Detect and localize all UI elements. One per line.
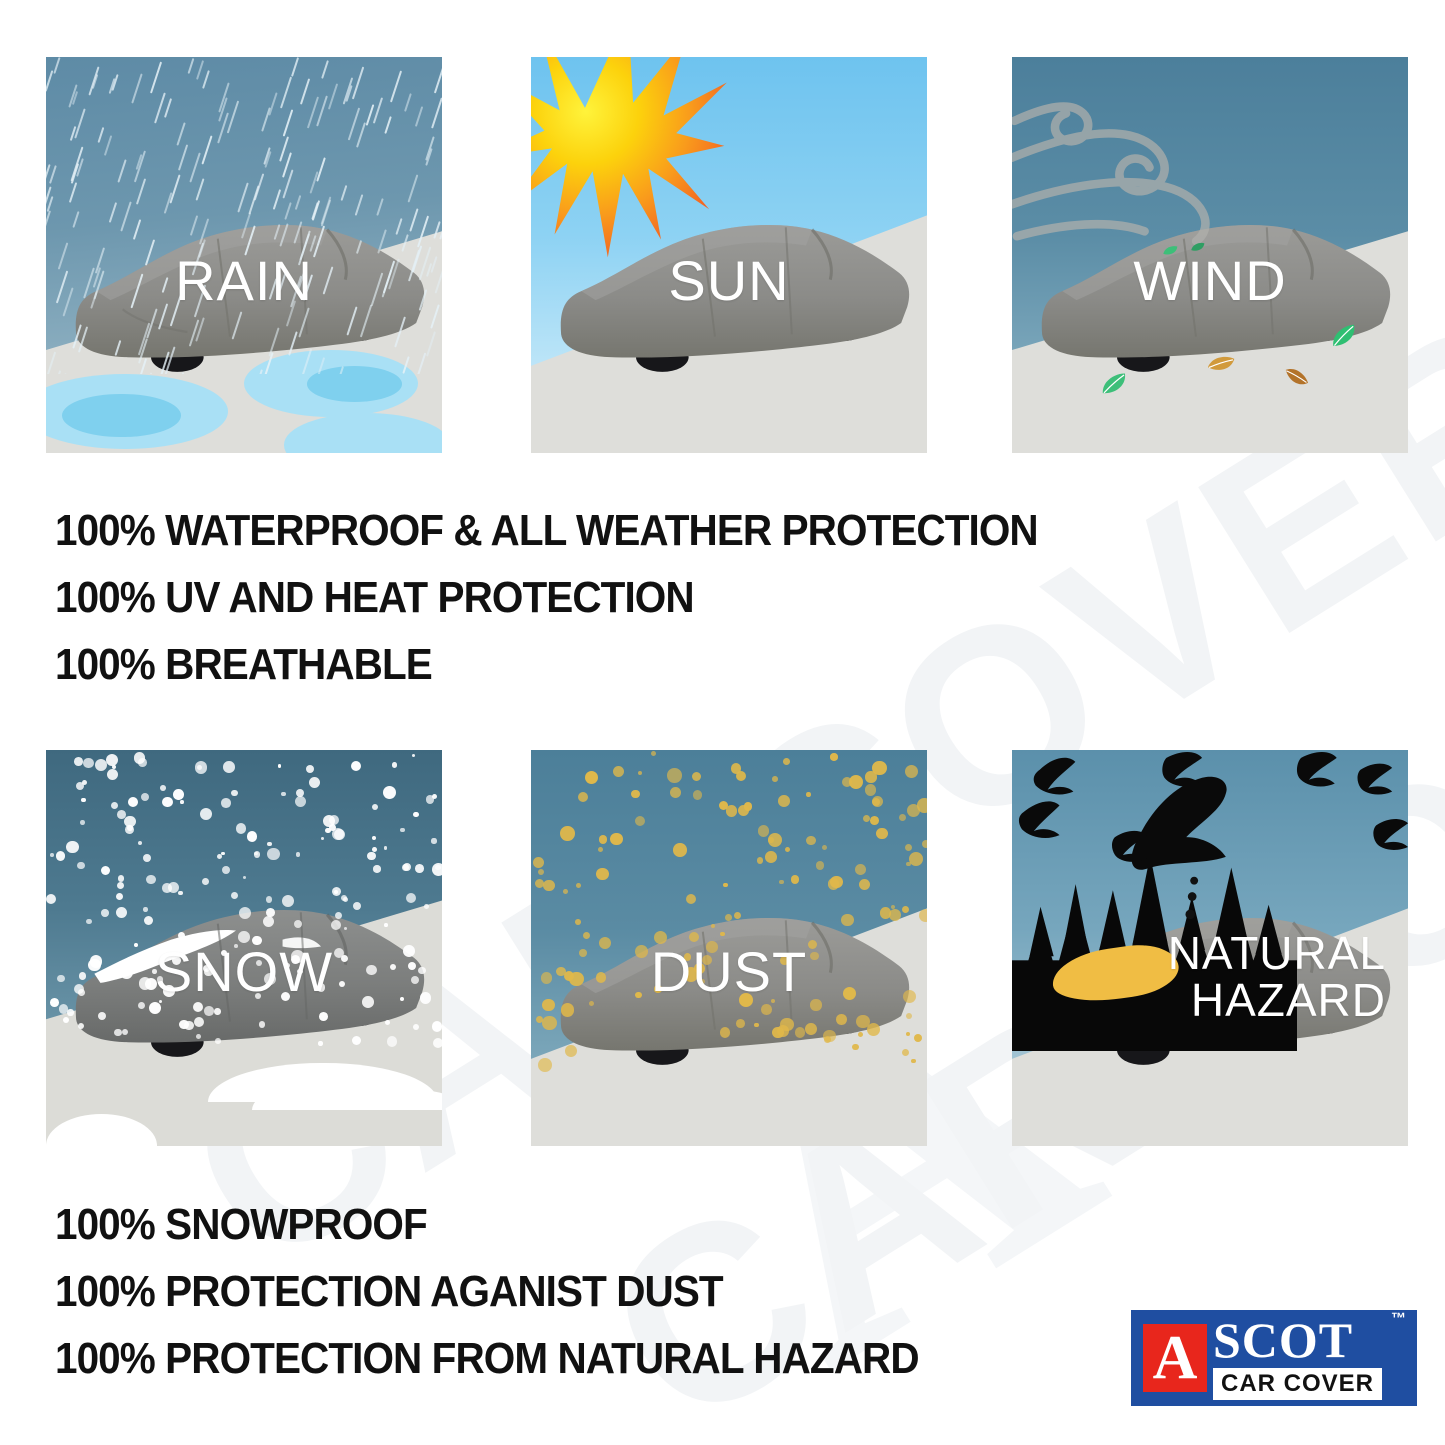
- snowflake: [296, 852, 301, 857]
- dust-mote: [905, 844, 912, 851]
- rain-drop: [63, 287, 74, 316]
- snowflake: [184, 1021, 194, 1031]
- snowflake: [204, 1006, 214, 1016]
- snowflake: [385, 1020, 390, 1025]
- dust-mote: [779, 880, 783, 884]
- dust-mote: [810, 999, 821, 1010]
- rain-drop: [196, 60, 204, 80]
- snowflake: [46, 894, 56, 904]
- dust-mote: [865, 784, 877, 796]
- rain-drop: [279, 76, 291, 108]
- snowflake: [101, 909, 109, 917]
- rain-drop: [434, 61, 442, 93]
- dust-mote: [635, 992, 642, 999]
- dust-mote: [638, 771, 642, 775]
- snowflake: [180, 800, 184, 804]
- rain-drop: [440, 210, 442, 240]
- rain-drop: [169, 175, 180, 204]
- snowflake: [335, 912, 342, 919]
- snowflake: [408, 962, 416, 970]
- snowflake: [200, 808, 212, 820]
- snowflake: [50, 853, 54, 857]
- dust-mote: [780, 956, 789, 965]
- rain-drop: [142, 372, 153, 373]
- rain-drop: [376, 198, 383, 216]
- feature-line: 100% PROTECTION FROM NATURAL HAZARD: [55, 1326, 919, 1393]
- rain-drop: [300, 348, 312, 374]
- dust-mote: [754, 1023, 759, 1028]
- rain-drop: [352, 67, 365, 100]
- rain-drop: [138, 323, 151, 356]
- snowflake: [420, 992, 431, 1003]
- snowflake: [309, 777, 320, 788]
- dust-mote: [700, 979, 705, 984]
- rain-drop: [269, 278, 278, 300]
- snowflake: [331, 920, 341, 930]
- logo-name: SCOT: [1213, 1316, 1382, 1364]
- snowflake: [267, 848, 280, 861]
- dust-mote: [806, 792, 810, 796]
- snowflake: [106, 754, 118, 766]
- feature-panel-snow: SNOW: [46, 750, 442, 1146]
- rain-drop: [49, 166, 57, 184]
- rain-drop: [371, 272, 384, 306]
- snowflake: [239, 907, 251, 919]
- snowflake: [266, 896, 272, 902]
- rain-drop: [310, 171, 319, 193]
- rain-drop: [56, 271, 69, 304]
- dust-mote: [855, 864, 866, 875]
- rain-drop: [396, 218, 403, 235]
- dust-mote: [810, 952, 819, 961]
- rain-drop: [273, 189, 281, 209]
- rain-drop: [158, 303, 168, 330]
- snowflake: [255, 993, 261, 999]
- dust-mote: [598, 847, 603, 852]
- rain-drop: [402, 356, 410, 374]
- snowflake: [117, 882, 124, 889]
- snowflake: [56, 851, 66, 861]
- rain-drop: [189, 152, 201, 182]
- dust-mote: [541, 972, 553, 984]
- snowflake: [144, 916, 153, 925]
- snowflake: [306, 765, 314, 773]
- dust-mote: [731, 763, 742, 774]
- dust-mote: [771, 999, 775, 1003]
- rain-drop: [133, 219, 141, 240]
- snowflake: [256, 960, 262, 966]
- dust-mote: [686, 894, 696, 904]
- snowflake: [107, 769, 118, 780]
- snowflake: [125, 825, 134, 834]
- snowflake: [406, 893, 416, 903]
- snowflake: [400, 997, 404, 1001]
- snowflake: [101, 866, 110, 875]
- snowflake: [418, 967, 425, 974]
- rain-drop: [145, 240, 155, 266]
- snowflake: [196, 1034, 201, 1039]
- snowflake: [432, 1021, 442, 1031]
- snowflake: [116, 893, 123, 900]
- feature-line: 100% WATERPROOF & ALL WEATHER PROTECTION: [55, 498, 1038, 565]
- rain-drop: [202, 70, 210, 88]
- dust-mote: [849, 775, 863, 789]
- snowflake: [334, 829, 345, 840]
- snowflake: [231, 892, 238, 899]
- rain-drop: [169, 293, 181, 326]
- rain-drop: [284, 203, 292, 221]
- snowflake: [384, 923, 388, 927]
- snowflake: [63, 1017, 69, 1023]
- dust-mote: [734, 912, 741, 919]
- snowflake: [152, 969, 157, 974]
- rain-drop: [74, 108, 85, 138]
- snowflake: [426, 795, 435, 804]
- rain-drop: [430, 304, 440, 328]
- snowflake: [367, 852, 375, 860]
- rain-drop: [408, 175, 419, 203]
- dust-mote: [902, 1049, 909, 1056]
- rain-drop: [46, 71, 53, 92]
- snowflake: [412, 754, 415, 757]
- feature-panel-natural-hazard: NATURAL HAZARD: [1012, 750, 1408, 1146]
- snowflake: [77, 862, 85, 870]
- snowflake: [78, 989, 85, 996]
- rain-drop: [282, 110, 292, 137]
- snowflake: [247, 831, 257, 841]
- sun-icon: [531, 57, 729, 263]
- rain-drop: [323, 267, 334, 295]
- dust-mote: [836, 1014, 846, 1024]
- snowflake: [67, 1009, 73, 1015]
- snowflake: [223, 761, 235, 773]
- rain-drop: [109, 202, 117, 222]
- snowflake: [236, 823, 247, 834]
- dust-mote: [635, 945, 648, 958]
- snowflake: [325, 828, 331, 834]
- rain-drop: [253, 369, 263, 373]
- rain-drop: [268, 327, 279, 356]
- dust-mote: [919, 909, 927, 922]
- rain-drop: [299, 308, 311, 338]
- rain-drop: [419, 290, 428, 312]
- dust-mote: [589, 1001, 594, 1006]
- dust-mote: [631, 790, 640, 799]
- dust-mote: [706, 941, 718, 953]
- feature-panel-wind: WIND: [1012, 57, 1408, 453]
- dust-mote: [654, 985, 661, 992]
- snowflake: [194, 1017, 204, 1027]
- snowflake: [415, 864, 424, 873]
- dust-mote: [533, 857, 544, 868]
- snowflake: [259, 1021, 265, 1027]
- snowflake: [138, 758, 147, 767]
- dust-mote: [772, 776, 778, 782]
- rain-drop: [327, 84, 337, 111]
- rain-drop: [176, 123, 185, 147]
- snowflake: [122, 1029, 128, 1035]
- snowflake: [157, 976, 163, 982]
- dust-mote: [736, 1019, 745, 1028]
- logo-tagline: CAR COVER: [1213, 1368, 1382, 1400]
- dust-mote: [585, 771, 598, 784]
- dust-mote: [711, 924, 715, 928]
- dust-mote: [805, 1023, 817, 1035]
- dust-mote: [599, 937, 611, 949]
- dust-particles: [531, 750, 927, 1146]
- features-list-top: 100% WATERPROOF & ALL WEATHER PROTECTION…: [55, 498, 1123, 699]
- dust-mote: [579, 949, 587, 957]
- snowflake: [204, 968, 213, 977]
- dust-mote: [702, 955, 712, 965]
- snowflake: [83, 758, 93, 768]
- rain-drop: [231, 311, 242, 339]
- rain-drop: [295, 195, 302, 210]
- dust-mote: [723, 883, 728, 888]
- rain-drop: [195, 178, 204, 200]
- dust-mote: [768, 837, 773, 842]
- dust-mote: [565, 1045, 577, 1057]
- snowflake: [383, 786, 396, 799]
- snowflake: [221, 798, 231, 808]
- rain-drop: [178, 145, 188, 172]
- dust-mote: [880, 907, 892, 919]
- snowflake: [351, 761, 361, 771]
- rain-drop: [161, 277, 168, 293]
- dust-mote: [795, 1027, 806, 1038]
- features-list-bottom: 100% SNOWPROOF 100% PROTECTION AGANIST D…: [55, 1192, 994, 1393]
- snowflake: [114, 1029, 122, 1037]
- dust-mote: [765, 851, 777, 863]
- rain-drop: [269, 92, 278, 115]
- snowflake: [317, 983, 326, 992]
- dust-mote: [536, 1016, 543, 1023]
- rain-drop: [360, 304, 373, 337]
- snowflake: [234, 944, 238, 948]
- dust-mote: [761, 1004, 772, 1015]
- dust-mote: [651, 751, 657, 757]
- dust-mote: [841, 914, 853, 926]
- snowflake: [143, 907, 147, 911]
- rain-drop: [317, 357, 325, 374]
- snowflake: [80, 820, 85, 825]
- snowflake: [111, 802, 118, 809]
- snowflake: [281, 992, 290, 1001]
- rain-drop: [54, 57, 61, 73]
- snowflake: [431, 838, 436, 843]
- dust-mote: [576, 883, 581, 888]
- feature-line: 100% PROTECTION AGANIST DUST: [55, 1259, 919, 1326]
- rain-drop: [136, 178, 146, 205]
- snowflake: [411, 976, 419, 984]
- snowflake: [193, 1002, 203, 1012]
- snowflake: [400, 828, 404, 832]
- rain-drop: [394, 316, 406, 347]
- rain-drop: [288, 331, 298, 355]
- snowflake: [339, 981, 345, 987]
- dust-mote: [725, 914, 732, 921]
- snowflake: [319, 1012, 328, 1021]
- feature-line: 100% BREATHABLE: [55, 632, 1038, 699]
- dust-mote: [870, 816, 879, 825]
- dust-mote: [808, 940, 817, 949]
- dust-mote: [739, 993, 753, 1007]
- dust-mote: [785, 847, 790, 852]
- rain-drop: [311, 202, 318, 220]
- snowflake: [82, 780, 87, 785]
- dust-mote: [542, 1016, 557, 1031]
- snowflake: [197, 765, 202, 770]
- trademark-icon: ™: [1391, 1310, 1406, 1327]
- snowflake: [424, 904, 429, 909]
- dust-mote: [843, 987, 856, 1000]
- snowflake: [134, 943, 138, 947]
- rain-drop: [178, 372, 185, 374]
- rain-drop: [435, 266, 442, 294]
- rain-drop: [115, 340, 122, 355]
- snowflake: [372, 804, 379, 811]
- rain-drop: [163, 98, 171, 118]
- dust-mote: [899, 814, 906, 821]
- rain-drop: [227, 100, 239, 133]
- snowflake: [160, 785, 166, 791]
- rain-drop: [405, 93, 413, 111]
- snowflake: [282, 895, 294, 907]
- snowflake: [353, 902, 361, 910]
- dust-mote: [744, 802, 753, 811]
- snowflake: [231, 790, 238, 797]
- rain-drop: [187, 58, 194, 74]
- snowflake: [318, 1041, 322, 1045]
- dust-mote: [859, 879, 870, 890]
- rain-drop: [414, 106, 423, 127]
- rain-drop: [192, 243, 204, 276]
- brand-logo[interactable]: A SCOT ™ CAR COVER: [1131, 1310, 1417, 1406]
- feature-panel-dust: DUST: [531, 750, 927, 1146]
- snowflake: [66, 841, 78, 853]
- rain-drop: [154, 92, 166, 123]
- rain-drop: [202, 136, 213, 165]
- dust-mote: [903, 990, 916, 1003]
- dust-mote: [757, 857, 763, 863]
- snowflake: [90, 955, 102, 967]
- dust-mote: [560, 826, 575, 841]
- snowflake: [128, 797, 138, 807]
- snowflake: [186, 936, 190, 940]
- dust-mote: [858, 1032, 863, 1037]
- rain-drop: [131, 73, 142, 103]
- rain-drop: [299, 231, 311, 262]
- rain-drop: [413, 353, 426, 374]
- dust-mote: [719, 801, 728, 810]
- snowflake: [138, 841, 142, 845]
- leaf-icon: [1204, 352, 1236, 380]
- snowflake: [295, 796, 306, 807]
- snowflake: [172, 956, 181, 965]
- snowflake: [372, 847, 377, 852]
- rain-drop: [317, 95, 329, 126]
- dust-mote: [569, 972, 584, 987]
- rain-drop: [117, 160, 126, 184]
- dust-mote: [599, 835, 607, 843]
- snowflake: [143, 854, 151, 862]
- snowflake: [81, 798, 85, 802]
- snowflake: [116, 907, 127, 918]
- snowflake: [221, 950, 227, 956]
- snowflake: [145, 978, 157, 990]
- dust-mote: [670, 787, 681, 798]
- rain-drop: [254, 173, 265, 200]
- dust-mote: [575, 919, 581, 925]
- dust-mote: [891, 905, 895, 909]
- snowflake: [278, 764, 282, 768]
- dust-mote: [905, 765, 918, 778]
- snowflake: [297, 969, 303, 975]
- rain-drop: [69, 182, 77, 203]
- snowflake: [294, 920, 302, 928]
- dust-mote: [538, 869, 544, 875]
- snowflake: [372, 836, 376, 840]
- rain-drop: [72, 211, 79, 228]
- leaf-icon: [1162, 243, 1178, 261]
- rain-drop: [377, 229, 387, 254]
- snowflake: [263, 916, 274, 927]
- dust-mote: [806, 836, 815, 845]
- snowflake: [168, 882, 179, 893]
- snowflake: [162, 797, 173, 808]
- rain-drop: [384, 116, 392, 134]
- snowflake: [178, 932, 185, 939]
- snowflake: [178, 891, 183, 896]
- dust-mote: [613, 766, 624, 777]
- snowflake: [433, 1038, 442, 1048]
- snowflake: [78, 1023, 84, 1029]
- snowflake: [321, 837, 324, 840]
- rain-drop: [104, 135, 113, 156]
- dust-mote: [635, 816, 645, 826]
- dust-mote: [543, 880, 555, 892]
- snowflake: [50, 998, 59, 1007]
- feature-panel-rain: RAIN: [46, 57, 442, 453]
- rain-drop: [347, 306, 358, 335]
- dust-mote: [914, 1034, 922, 1042]
- dust-mote: [542, 999, 554, 1011]
- snowflake: [252, 936, 261, 945]
- snowflake: [86, 919, 92, 925]
- snowflake: [435, 865, 441, 871]
- dust-mote: [917, 798, 927, 812]
- rain-drop: [341, 185, 348, 200]
- dust-mote: [610, 833, 623, 846]
- dust-mote: [538, 1058, 552, 1072]
- snowflake: [329, 815, 339, 825]
- feature-panel-sun: SUN: [531, 57, 927, 453]
- feature-line: 100% UV AND HEAT PROTECTION: [55, 565, 1038, 632]
- rain-drop: [294, 222, 303, 244]
- snowflake: [222, 866, 230, 874]
- rain-drop: [193, 284, 205, 317]
- snowflake: [343, 897, 348, 902]
- snowflake: [332, 887, 341, 896]
- snowflake: [74, 757, 83, 766]
- snowflake: [392, 762, 398, 768]
- snowflake: [120, 966, 133, 979]
- snowflake: [366, 965, 376, 975]
- birds-icon: [1012, 750, 1408, 948]
- dust-mote: [852, 1044, 859, 1051]
- snowflake: [334, 948, 344, 958]
- dust-mote: [561, 1003, 575, 1017]
